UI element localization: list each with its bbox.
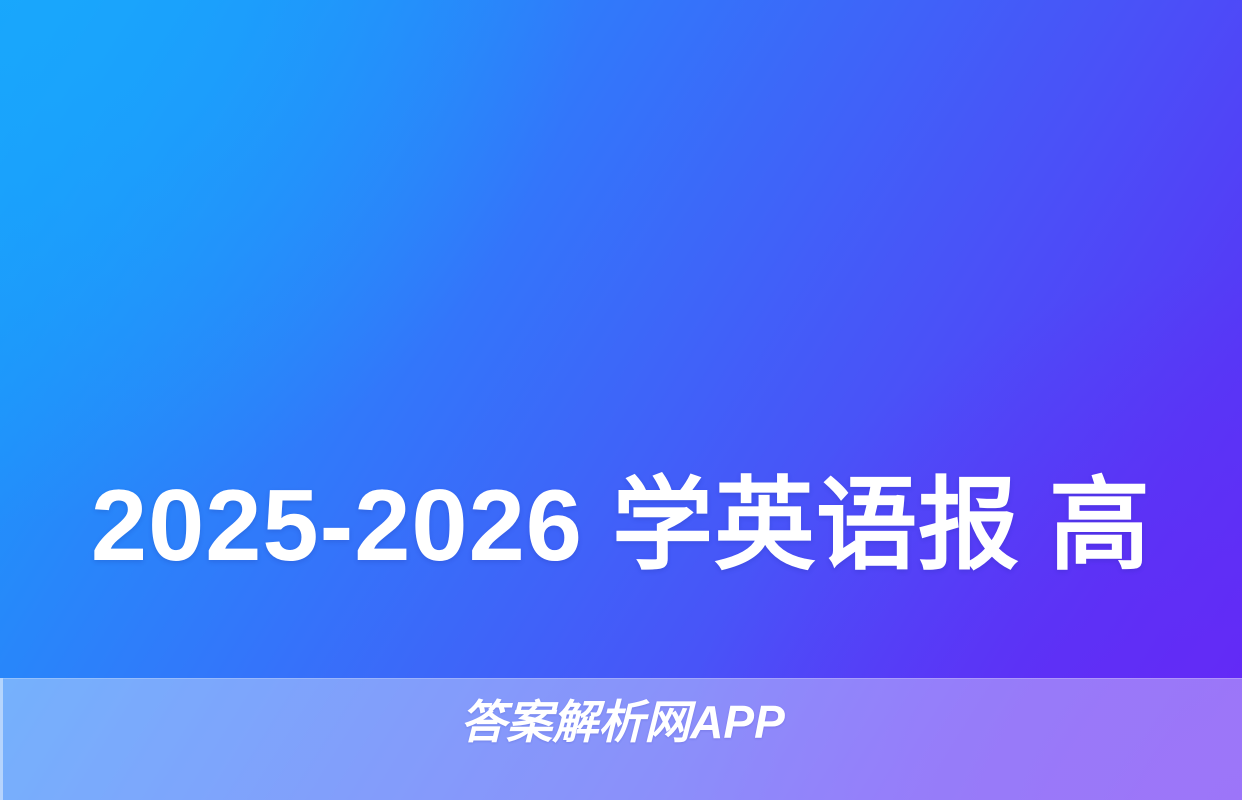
article-cover-banner: 2025-2026 学英语报 高 二 新课程课标基础 第5 期答案 答案解析网A… xyxy=(0,0,1242,800)
page-title-line-1: 2025-2026 学英语报 高 xyxy=(62,458,1180,594)
app-watermark-label: 答案解析网APP xyxy=(3,692,1242,752)
footer-watermark-band: 答案解析网APP xyxy=(0,678,1242,800)
